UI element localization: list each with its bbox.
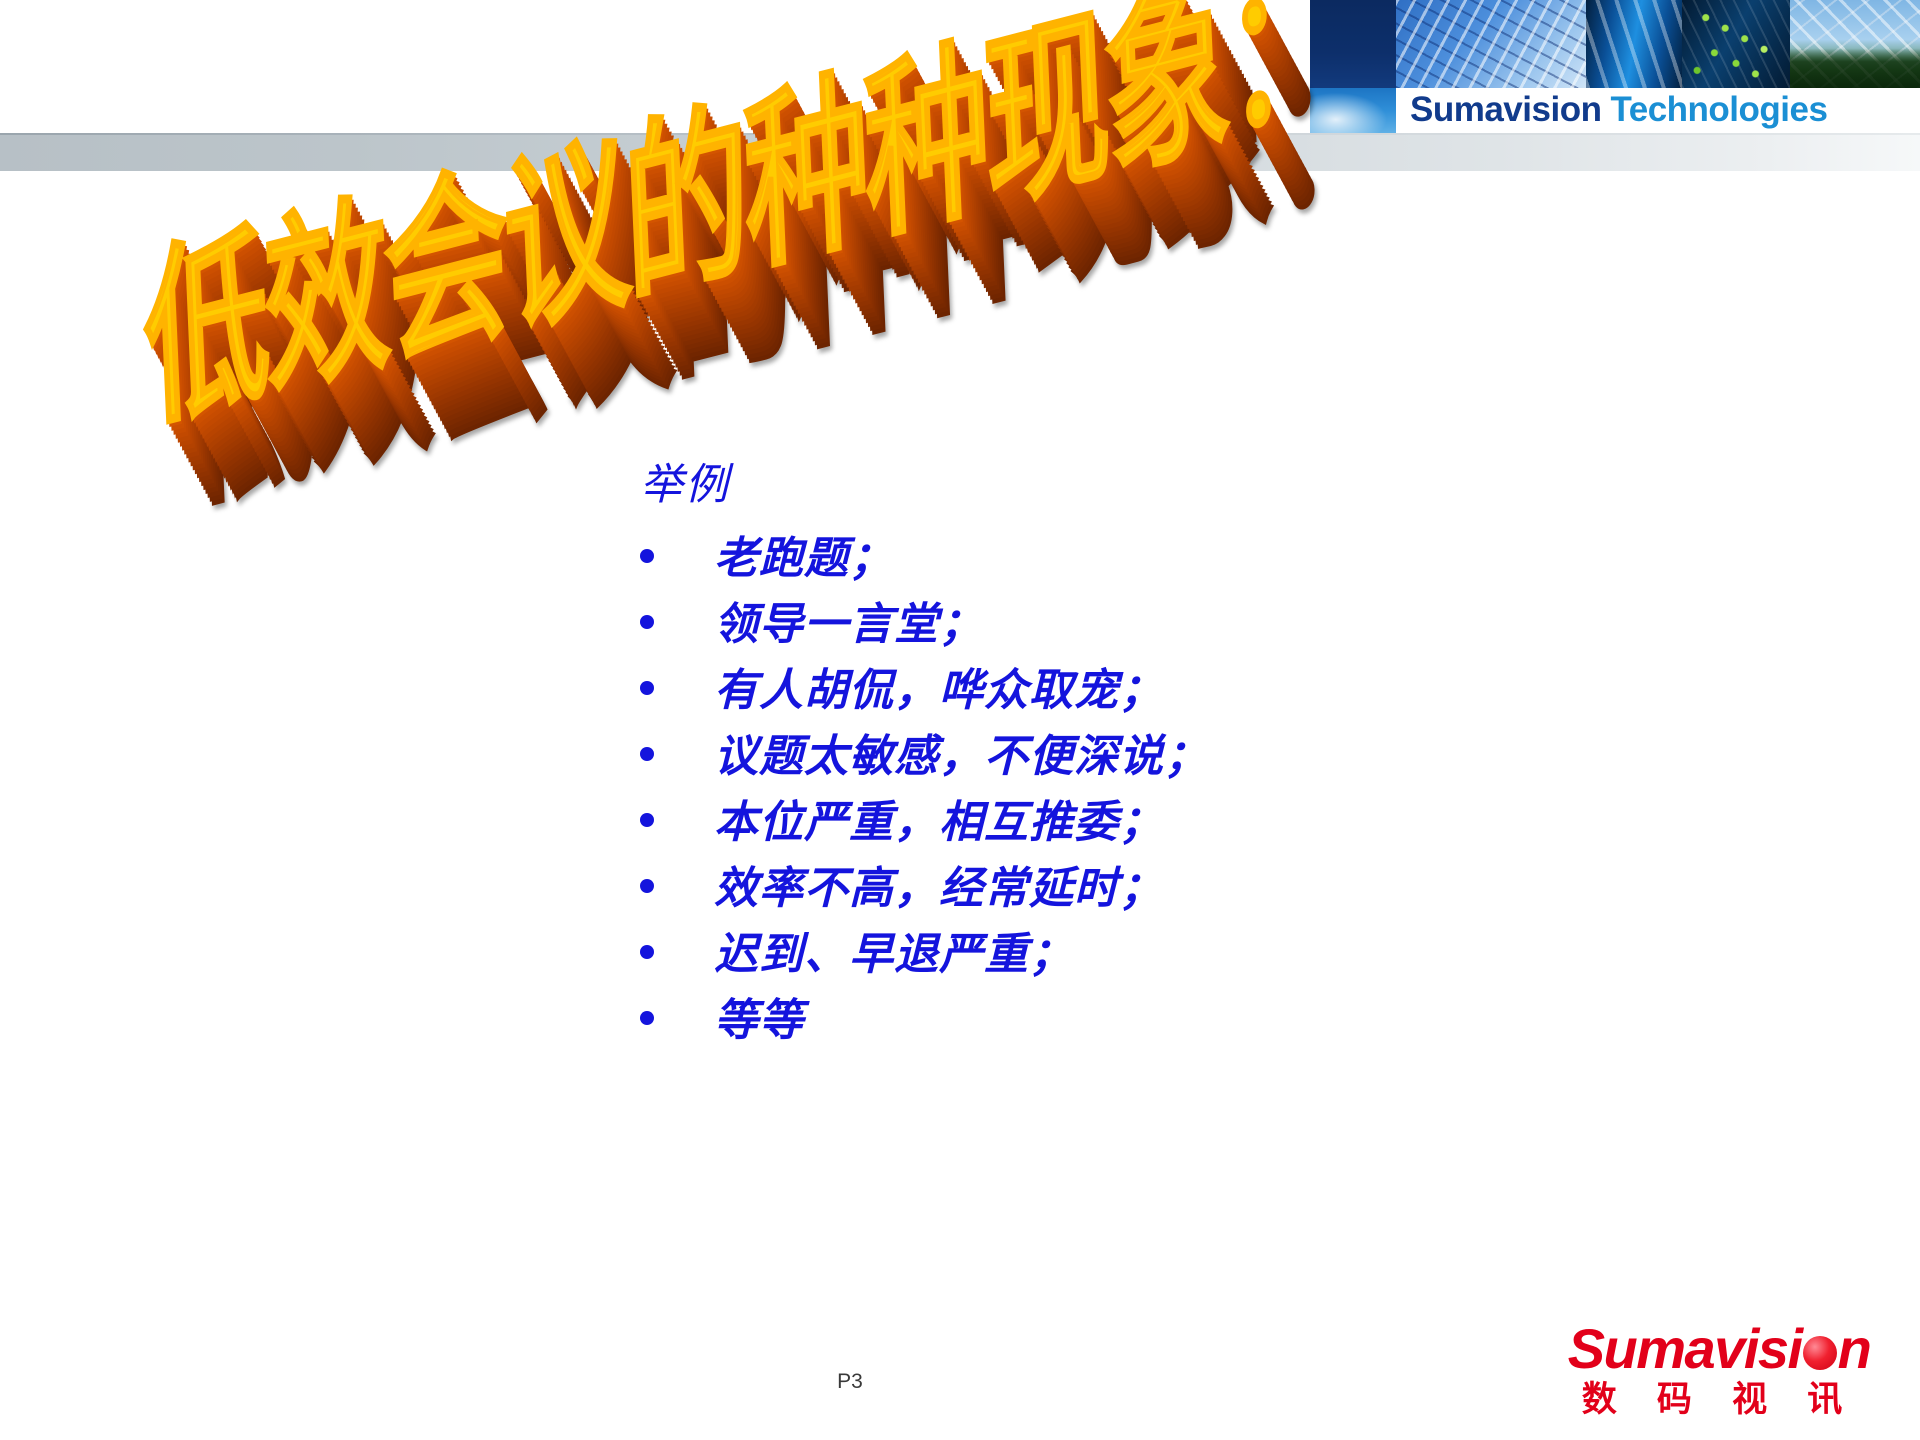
fiber-cable-photo-icon xyxy=(1586,0,1682,88)
list-item: 迟到、早退严重； xyxy=(640,929,1400,981)
banner-image-strip xyxy=(1310,0,1920,88)
brand-title: SumavisionTechnologies xyxy=(1410,90,1827,130)
footer-logo-text-tail: n xyxy=(1838,1317,1871,1380)
bullet-dot-icon xyxy=(640,1011,654,1025)
list-item: 议题太敏感，不便深说； xyxy=(640,731,1400,783)
footer-logo: Sumavisin 数 码 视 讯 xyxy=(1554,1321,1884,1418)
bullet-dot-icon xyxy=(640,813,654,827)
list-item: 有人胡侃，哗众取宠； xyxy=(640,665,1400,717)
page-number: P3 xyxy=(0,1370,1700,1394)
list-item-label: 议题太敏感，不便深说； xyxy=(714,731,1209,783)
list-item-label: 有人胡侃，哗众取宠； xyxy=(714,665,1164,717)
phenomena-bullet-list: 老跑题； 领导一言堂； 有人胡侃，哗众取宠； 议题太敏感，不便深说； 本位严重，… xyxy=(640,533,1400,1046)
list-item: 本位严重，相互推委； xyxy=(640,797,1400,849)
list-item-label: 迟到、早退严重； xyxy=(714,929,1074,981)
brand-name-primary: Sumavision xyxy=(1410,90,1601,129)
banner-title-box: SumavisionTechnologies xyxy=(1396,88,1920,133)
list-item: 效率不高，经常延时； xyxy=(640,863,1400,915)
bullet-dot-icon xyxy=(640,747,654,761)
list-item: 老跑题； xyxy=(640,533,1400,585)
example-label: 举例 xyxy=(640,462,1400,509)
bullet-dot-icon xyxy=(640,681,654,695)
satellite-antenna-photo-icon xyxy=(1790,0,1920,88)
bullet-dot-icon xyxy=(640,615,654,629)
slide-body: 举例 老跑题； 领导一言堂； 有人胡侃，哗众取宠； 议题太敏感，不便深说； 本位… xyxy=(640,462,1400,1061)
keyboard-photo-icon xyxy=(1396,0,1586,88)
footer-logo-wordmark: Sumavisin xyxy=(1554,1321,1884,1377)
footer-logo-subtext: 数 码 视 讯 xyxy=(1554,1383,1884,1418)
list-item-label: 效率不高，经常延时； xyxy=(714,863,1164,915)
brand-name-secondary: Technologies xyxy=(1610,90,1827,129)
bullet-dot-icon xyxy=(640,549,654,563)
bullet-dot-icon xyxy=(640,879,654,893)
list-item: 领导一言堂； xyxy=(640,599,1400,651)
list-item-label: 等等 xyxy=(714,995,804,1047)
bullet-dot-icon xyxy=(640,945,654,959)
brand-banner: SumavisionTechnologies xyxy=(1310,0,1920,133)
list-item: 等等 xyxy=(640,995,1400,1047)
circuit-board-photo-icon xyxy=(1682,0,1790,88)
logo-circle-icon xyxy=(1803,1336,1837,1370)
list-item-label: 领导一言堂； xyxy=(714,599,984,651)
list-item-label: 老跑题； xyxy=(714,533,894,585)
footer-logo-text: Sumavisi xyxy=(1568,1317,1802,1380)
list-item-label: 本位严重，相互推委； xyxy=(714,797,1164,849)
